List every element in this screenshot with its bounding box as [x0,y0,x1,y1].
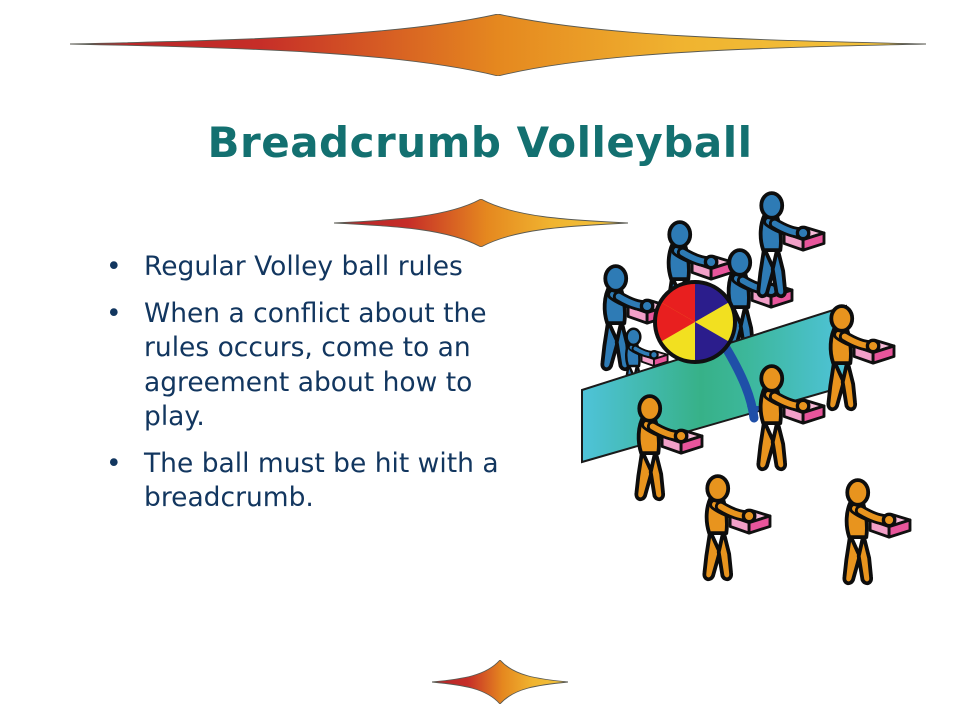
bullet-marker: • [106,297,122,331]
volleyball-clipart [570,190,960,610]
bullet-text: When a conflict about the rules occurs, … [144,298,487,432]
bullet-marker: • [106,250,122,284]
list-item: • The ball must be hit with a breadcrumb… [96,447,526,515]
beach-ball [655,282,735,362]
bullet-list: • Regular Volley ball rules • When a con… [96,250,526,528]
bullet-marker: • [106,447,122,481]
top-diamond-ornament [70,14,926,76]
list-item: • Regular Volley ball rules [96,250,526,284]
bullet-text: Regular Volley ball rules [144,251,463,282]
presentation-slide: Breadcrumb Volleyball • Regular Volley b… [0,0,960,720]
page-title: Breadcrumb Volleyball [0,118,960,167]
list-item: • When a conflict about the rules occurs… [96,297,526,434]
bottom-diamond-ornament [432,660,568,704]
bullet-text: The ball must be hit with a breadcrumb. [144,448,499,513]
